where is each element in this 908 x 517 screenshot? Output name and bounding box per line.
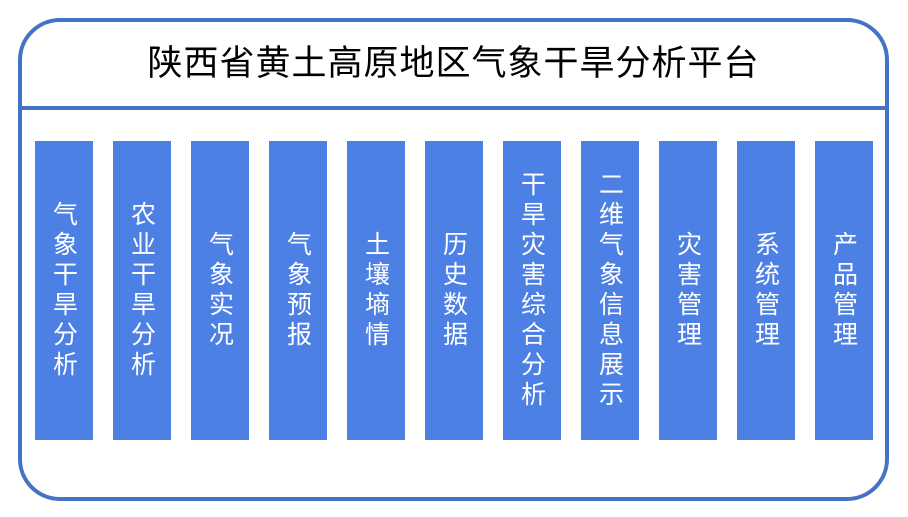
- module-bar[interactable]: 土壤墒情: [347, 141, 405, 440]
- module-bar-row: 气象干旱分析农业干旱分析气象实况气象预报土壤墒情历史数据干旱灾害综合分析二维气象…: [22, 106, 885, 497]
- module-bar-label: 农业干旱分析: [126, 201, 158, 381]
- module-bar-label: 产品管理: [828, 231, 860, 351]
- module-bar[interactable]: 气象实况: [191, 141, 249, 440]
- module-bar[interactable]: 二维气象信息展示: [581, 141, 639, 440]
- module-bar[interactable]: 干旱灾害综合分析: [503, 141, 561, 440]
- platform-frame: 陕西省黄土高原地区气象干旱分析平台 气象干旱分析农业干旱分析气象实况气象预报土壤…: [18, 18, 889, 501]
- module-bar[interactable]: 灾害管理: [659, 141, 717, 440]
- header-band: 陕西省黄土高原地区气象干旱分析平台: [22, 22, 885, 110]
- module-bar-label: 干旱灾害综合分析: [516, 171, 548, 411]
- module-bar[interactable]: 产品管理: [815, 141, 873, 440]
- module-bar[interactable]: 农业干旱分析: [113, 141, 171, 440]
- module-bar-label: 土壤墒情: [360, 231, 392, 351]
- module-bar[interactable]: 系统管理: [737, 141, 795, 440]
- module-bar[interactable]: 气象预报: [269, 141, 327, 440]
- module-bar-label: 灾害管理: [672, 231, 704, 351]
- module-bar-label: 二维气象信息展示: [594, 171, 626, 411]
- module-bar[interactable]: 历史数据: [425, 141, 483, 440]
- module-bar-label: 气象干旱分析: [48, 201, 80, 381]
- module-bar[interactable]: 气象干旱分析: [35, 141, 93, 440]
- page-title: 陕西省黄土高原地区气象干旱分析平台: [147, 47, 759, 82]
- module-bar-label: 气象实况: [204, 231, 236, 351]
- module-bar-label: 系统管理: [750, 231, 782, 351]
- module-bar-label: 历史数据: [438, 231, 470, 351]
- module-bar-label: 气象预报: [282, 231, 314, 351]
